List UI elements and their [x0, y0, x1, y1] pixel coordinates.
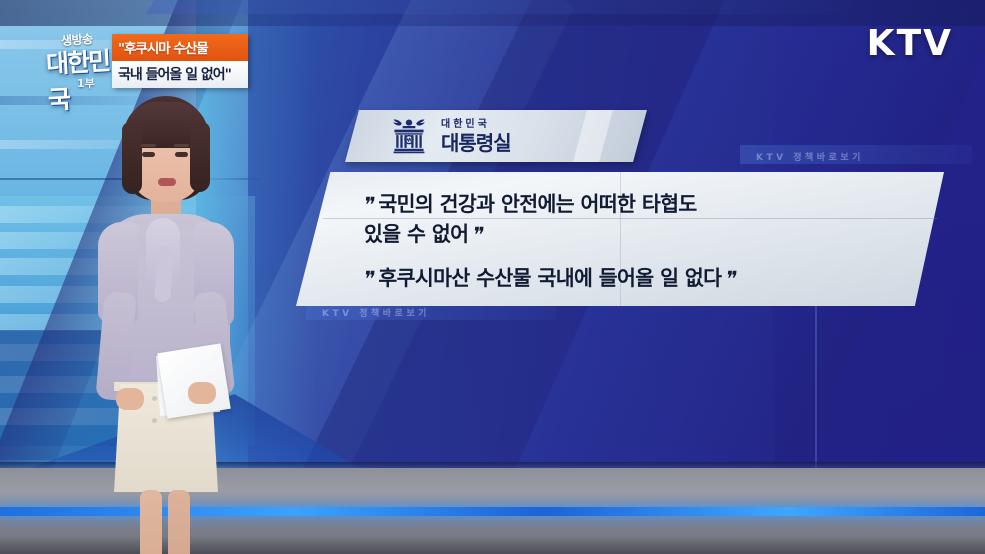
- quote-mark-open-icon: ❞: [362, 265, 374, 294]
- quote-2-row: ❞후쿠시마산 수산물 국내에 들어올 일 없다❞: [364, 264, 944, 294]
- presidential-phoenix-emblem: [386, 116, 432, 156]
- quote-2: 후쿠시마산 수산물 국내에 들어올 일 없다: [378, 266, 721, 290]
- broadcast-screen: 생방송 대한민국 1부 "후쿠시마 수산물 국내 들어올 일 없어" KTV K…: [0, 0, 985, 554]
- quote-panel-text: ❞국민의 건강과 안전에는 어떠한 타협도 있을 수 없어❞ ❞후쿠시마산 수산…: [296, 172, 944, 306]
- anchor-skirt-button: [152, 396, 157, 401]
- news-anchor: [96, 96, 236, 554]
- channel-logo: KTV: [867, 23, 953, 64]
- watermark-text: KTV 정책바로보기: [756, 150, 864, 163]
- source-country: 대한민국: [441, 120, 511, 130]
- anchor-hair-left: [122, 122, 142, 194]
- headline-line-1: "후쿠시마 수산물: [112, 34, 248, 61]
- anchor-script-paper: [157, 343, 231, 418]
- quote-mark-close-icon: ❞: [725, 265, 737, 294]
- program-part-label: 1부: [77, 75, 95, 91]
- anchor-leg-right: [168, 490, 190, 554]
- program-logo: 생방송 대한민국 1부: [47, 29, 117, 93]
- anchor-skirt-button: [152, 418, 157, 423]
- quote-1-line-1-row: ❞국민의 건강과 안전에는 어떠한 타협도: [364, 190, 944, 220]
- quote-mark-open-icon: ❞: [362, 191, 374, 220]
- quote-1-line-2: 있을 수 없어: [364, 222, 468, 246]
- background-top-accent: [146, 0, 855, 14]
- quote-mark-close-icon: ❞: [472, 221, 484, 250]
- anchor-hair-right: [190, 122, 210, 192]
- watermark-text: KTV 정책바로보기: [322, 306, 430, 319]
- anchor-hand-right: [188, 382, 216, 404]
- source-header-content: 대한민국 대통령실: [352, 110, 640, 162]
- anchor-leg-left: [140, 490, 162, 554]
- source-header-text: 대한민국 대통령실: [441, 120, 511, 153]
- headline-banner: "후쿠시마 수산물 국내 들어올 일 없어": [112, 34, 248, 88]
- anchor-eyebrow: [141, 144, 156, 147]
- anchor-eye: [142, 152, 155, 157]
- quote-1-line-2-row: 있을 수 없어❞: [364, 220, 944, 250]
- anchor-eyebrow: [174, 144, 189, 147]
- anchor-mouth: [158, 178, 176, 186]
- source-office: 대통령실: [441, 133, 511, 153]
- headline-line-2: 국내 들어올 일 없어": [112, 61, 248, 88]
- anchor-eye: [175, 152, 188, 157]
- quote-1-line-1: 국민의 건강과 안전에는 어떠한 타협도: [378, 192, 696, 216]
- anchor-hand-left: [116, 388, 144, 410]
